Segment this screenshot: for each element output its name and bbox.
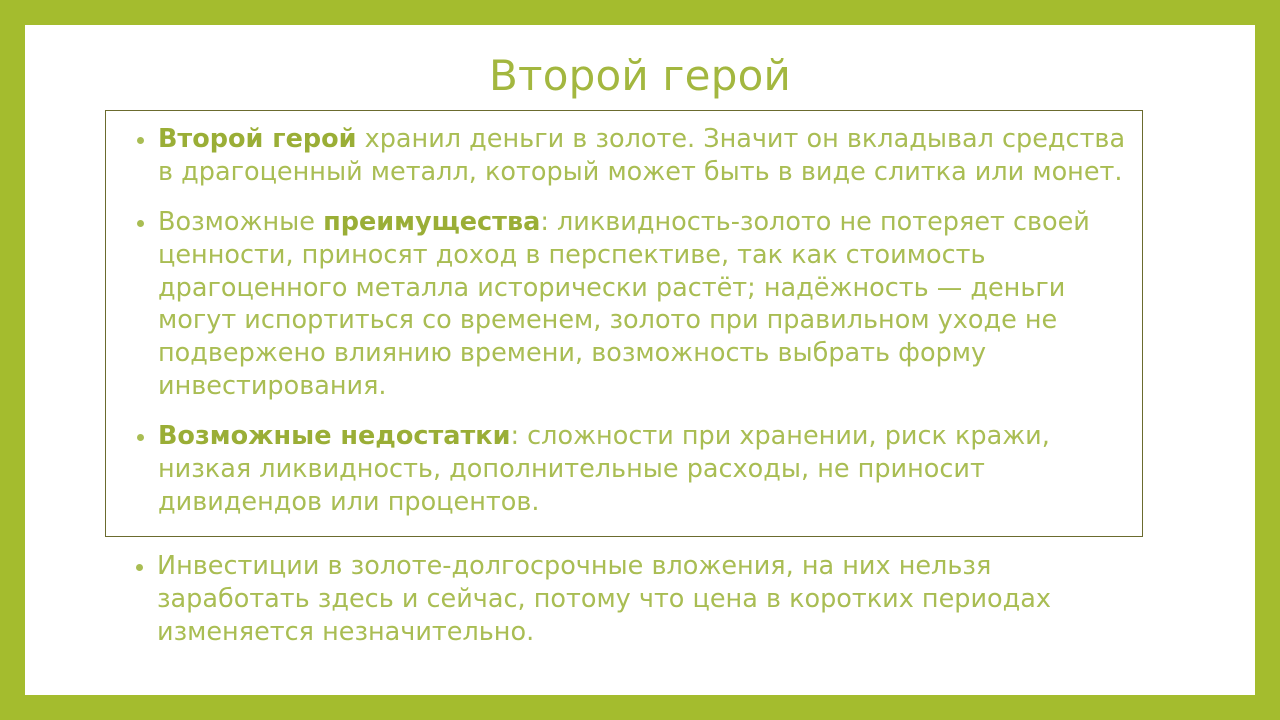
bullet-2-bold-lead: преимущества [323,207,540,237]
slide-canvas: Второй герой Второй герой хранил деньги … [25,25,1255,695]
bordered-content-box: Второй герой хранил деньги в золоте. Зна… [105,110,1143,537]
list-item: Возможные недостатки: сложности при хран… [122,420,1126,519]
list-item: Возможные преимущества: ликвидность-золо… [122,206,1126,403]
bullet-2-prefix: Возможные [158,207,323,237]
bullet-3-bold-lead: Возможные недостатки [158,421,510,451]
bullet-1-bold-lead: Второй герой [158,124,357,154]
slide-root: Второй герой Второй герой хранил деньги … [0,0,1280,720]
list-item: Второй герой хранил деньги в золоте. Зна… [122,123,1126,189]
list-item: Инвестиции в золоте-долгосрочные вложени… [121,550,1127,649]
outside-bullet-list: Инвестиции в золоте-долгосрочные вложени… [121,550,1127,649]
bullet-4-text: Инвестиции в золоте-долгосрочные вложени… [157,551,1051,647]
boxed-bullet-list: Второй герой хранил деньги в золоте. Зна… [122,123,1126,519]
outside-content-block: Инвестиции в золоте-долгосрочные вложени… [105,550,1143,649]
page-title: Второй герой [25,53,1255,99]
